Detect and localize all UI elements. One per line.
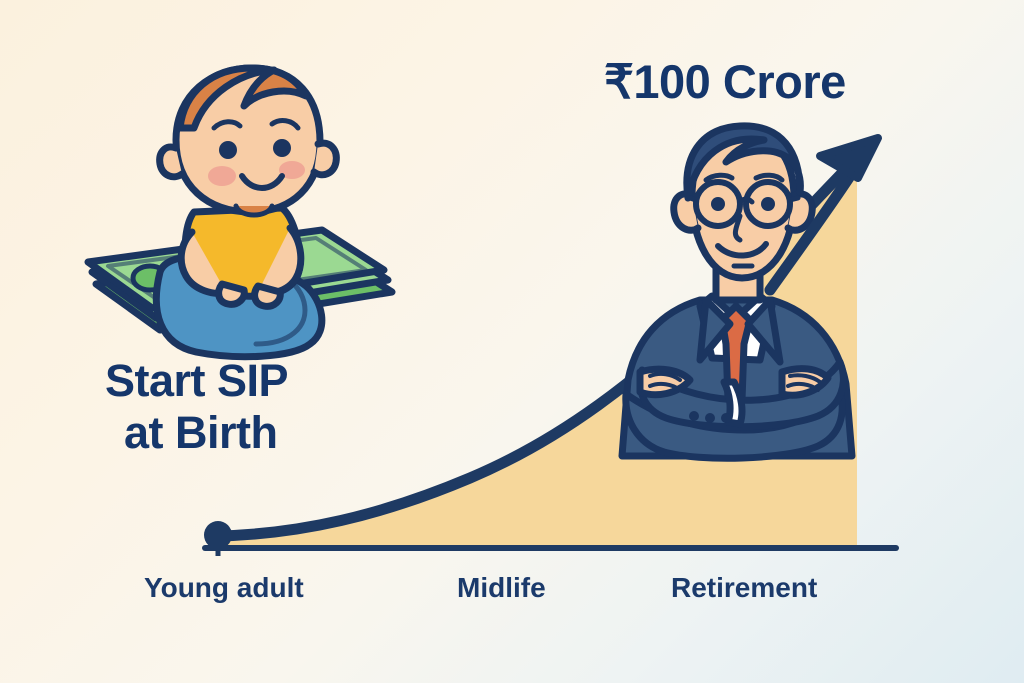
value-callout: ₹100 Crore — [604, 58, 846, 105]
arrow-shaft — [770, 170, 854, 290]
axis-label-midlife: Midlife — [457, 572, 546, 604]
axis-label-young-adult: Young adult — [144, 572, 304, 604]
caption-line-2: at Birth — [124, 410, 278, 455]
arrow-head — [820, 138, 878, 178]
axis-label-retirement: Retirement — [671, 572, 817, 604]
caption-line-1: Start SIP — [105, 358, 288, 403]
infographic-canvas: ₹100 Crore Start SIP at Birth Young adul… — [0, 0, 1024, 683]
